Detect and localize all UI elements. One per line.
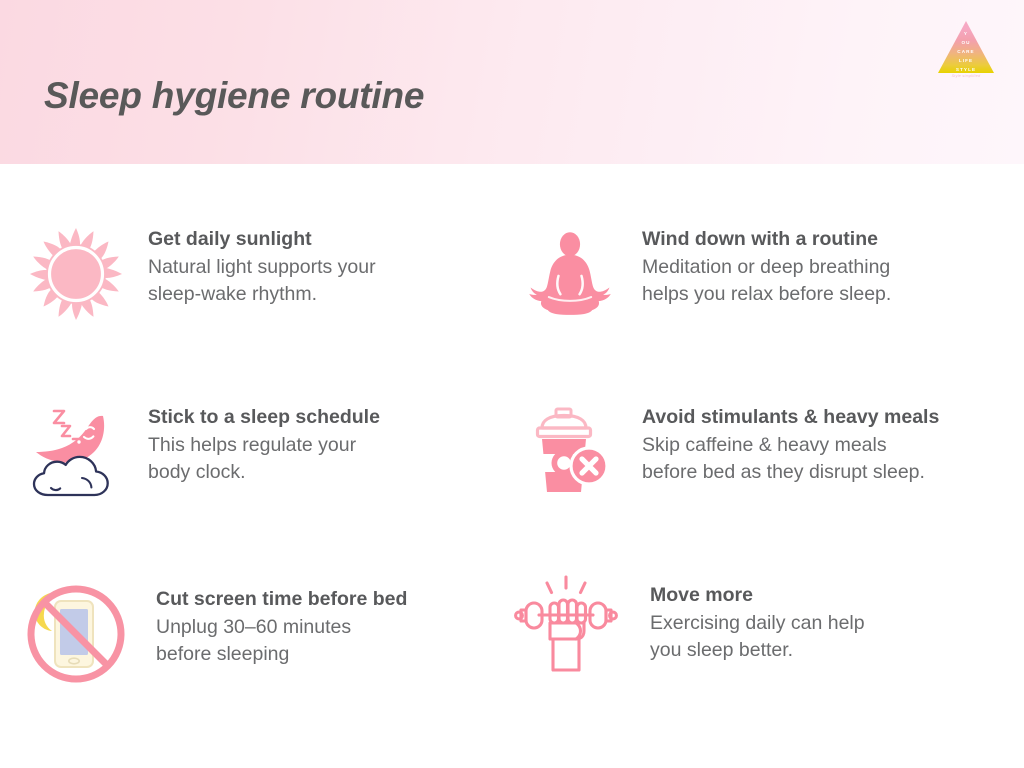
tip-item: Move more Exercising daily can help you … <box>506 564 865 684</box>
header-banner: Sleep hygiene routine Y OU CARE LIFE STY… <box>0 0 1024 164</box>
tip-heading: Cut screen time before bed <box>156 588 407 612</box>
meditation-lotus-icon <box>516 220 624 328</box>
tip-item: Avoid stimulants & heavy meals Skip caff… <box>516 398 939 506</box>
tip-body-line-1: Exercising daily can help <box>650 610 865 637</box>
tip-item: Stick to a sleep schedule This helps reg… <box>22 398 380 506</box>
tip-text: Move more Exercising daily can help you … <box>626 564 865 664</box>
no-phone-at-night-icon <box>16 574 136 694</box>
tip-body-line-1: This helps regulate your <box>148 432 380 459</box>
tip-heading: Avoid stimulants & heavy meals <box>642 406 939 430</box>
no-coffee-cup-icon <box>516 398 624 506</box>
tip-body-line-1: Natural light supports your <box>148 254 376 281</box>
logo-line-1: Y <box>964 30 968 39</box>
tip-body-line-1: Skip caffeine & heavy meals <box>642 432 939 459</box>
tip-heading: Stick to a sleep schedule <box>148 406 380 430</box>
tips-grid: Get daily sunlight Natural light support… <box>0 164 1024 768</box>
tip-heading: Wind down with a routine <box>642 228 891 252</box>
tip-text: Wind down with a routine Meditation or d… <box>624 220 891 308</box>
tip-body-line-2: helps you relax before sleep. <box>642 281 891 308</box>
tip-body-line-2: body clock. <box>148 459 380 486</box>
slide-root: Sleep hygiene routine Y OU CARE LIFE STY… <box>0 0 1024 768</box>
logo-line-3: CARE <box>957 48 974 57</box>
page-title: Sleep hygiene routine <box>44 75 424 117</box>
logo-line-2: OU <box>961 39 970 48</box>
tip-text: Get daily sunlight Natural light support… <box>130 220 376 308</box>
fist-dumbbell-icon <box>506 564 626 684</box>
sleeping-moon-cloud-icon <box>22 398 130 506</box>
tip-text: Cut screen time before bed Unplug 30–60 … <box>136 574 407 668</box>
tip-body-line-2: you sleep better. <box>650 637 865 664</box>
tip-body-line-2: sleep-wake rhythm. <box>148 281 376 308</box>
tip-body-line-2: before sleeping <box>156 641 407 668</box>
sun-icon <box>22 220 130 328</box>
tip-body-line-2: before bed as they disrupt sleep. <box>642 459 939 486</box>
logo-wordmark: Y OU CARE LIFE STYLE <box>938 21 994 73</box>
logo-tagline: Style simplified <box>938 74 994 78</box>
tip-item: Wind down with a routine Meditation or d… <box>516 220 891 328</box>
tip-item: Cut screen time before bed Unplug 30–60 … <box>16 574 407 694</box>
tip-body-line-1: Unplug 30–60 minutes <box>156 614 407 641</box>
tip-heading: Get daily sunlight <box>148 228 376 252</box>
tip-heading: Move more <box>650 584 865 608</box>
tip-text: Stick to a sleep schedule This helps reg… <box>130 398 380 486</box>
tip-item: Get daily sunlight Natural light support… <box>22 220 376 328</box>
tip-body-line-1: Meditation or deep breathing <box>642 254 891 281</box>
tip-text: Avoid stimulants & heavy meals Skip caff… <box>624 398 939 486</box>
logo-line-4: LIFE <box>959 57 973 66</box>
brand-logo: Y OU CARE LIFE STYLE Style simplified <box>938 21 994 73</box>
